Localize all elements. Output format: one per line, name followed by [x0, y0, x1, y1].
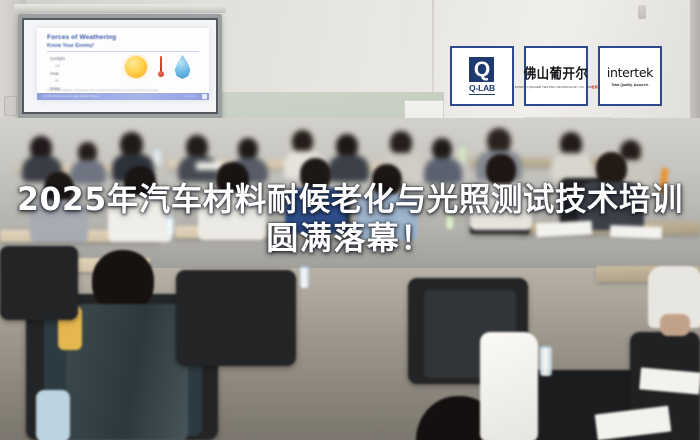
projector-screen: Forces of Weathering Know Your Enemy! Su… — [22, 18, 218, 114]
intertek-wordmark: intertek — [607, 65, 653, 80]
logo-strip: Q Q-LAB 佛山葡开尔 FOSHAN QIKAIER TESTING TEC… — [450, 46, 662, 106]
foshan-wordmark-sub: FOSHAN QIKAIER TESTING TECHNOLOGY CO.,LT… — [515, 84, 598, 89]
logo-foshan-partner: 佛山葡开尔 FOSHAN QIKAIER TESTING TECHNOLOGY … — [524, 46, 588, 106]
poster-title-line-1: 2025年汽车材料耐候老化与光照测试技术培训 — [5, 180, 695, 218]
light-switch — [4, 96, 17, 116]
water-drop-icon — [174, 55, 191, 79]
q-lab-mark-letter: Q — [474, 59, 490, 80]
slide-bullet: UV — [50, 63, 106, 70]
q-lab-mark-icon: Q — [469, 57, 494, 82]
slide-subtitle: Know Your Enemy! — [47, 43, 94, 49]
slide-title: Forces of Weathering — [47, 34, 116, 41]
slide-bullet: IR — [50, 78, 106, 85]
slide-footnote: Note: Solar radiation, temperature and m… — [47, 88, 197, 92]
poster-image: Forces of Weathering Know Your Enemy! Su… — [0, 0, 700, 440]
foshan-sub-accent: 检测 — [591, 85, 597, 89]
slide-footer-left: Q-LAB Weathering and Light Stability Tes… — [43, 94, 99, 98]
scene-layer-front — [0, 118, 700, 440]
slide-divider — [47, 51, 199, 52]
intertek-tagline: Total Quality. Assured. — [611, 83, 648, 87]
logo-q-lab: Q Q-LAB — [450, 46, 514, 106]
thermometer-icon — [158, 56, 164, 79]
presentation-slide: Forces of Weathering Know Your Enemy! Su… — [37, 28, 209, 100]
projector-screen-frame: Forces of Weathering Know Your Enemy! Su… — [18, 14, 222, 119]
classroom-scene — [0, 118, 700, 440]
sun-icon — [125, 56, 147, 78]
poster-title-line-2: 圆满落幕！ — [0, 218, 700, 258]
slide-page-number — [202, 94, 207, 99]
poster-title: 2025年汽车材料耐候老化与光照测试技术培训 圆满落幕！ — [0, 180, 700, 258]
wall-hook — [638, 5, 646, 19]
foshan-wordmark-cn: 佛山葡开尔 — [524, 62, 589, 83]
foshan-sub-latin: FOSHAN QIKAIER TESTING TECHNOLOGY CO.,LT… — [515, 85, 592, 89]
slide-footer-right: q-lab.com — [185, 94, 197, 98]
projector-screen-roller — [14, 4, 226, 13]
logo-intertek: intertek Total Quality. Assured. — [598, 46, 662, 106]
slide-bullet: Sunlight — [50, 55, 106, 63]
slide-bullet: Heat — [50, 70, 106, 78]
q-lab-wordmark: Q-LAB — [469, 83, 495, 95]
slide-footer-bar: Q-LAB Weathering and Light Stability Tes… — [37, 93, 209, 100]
